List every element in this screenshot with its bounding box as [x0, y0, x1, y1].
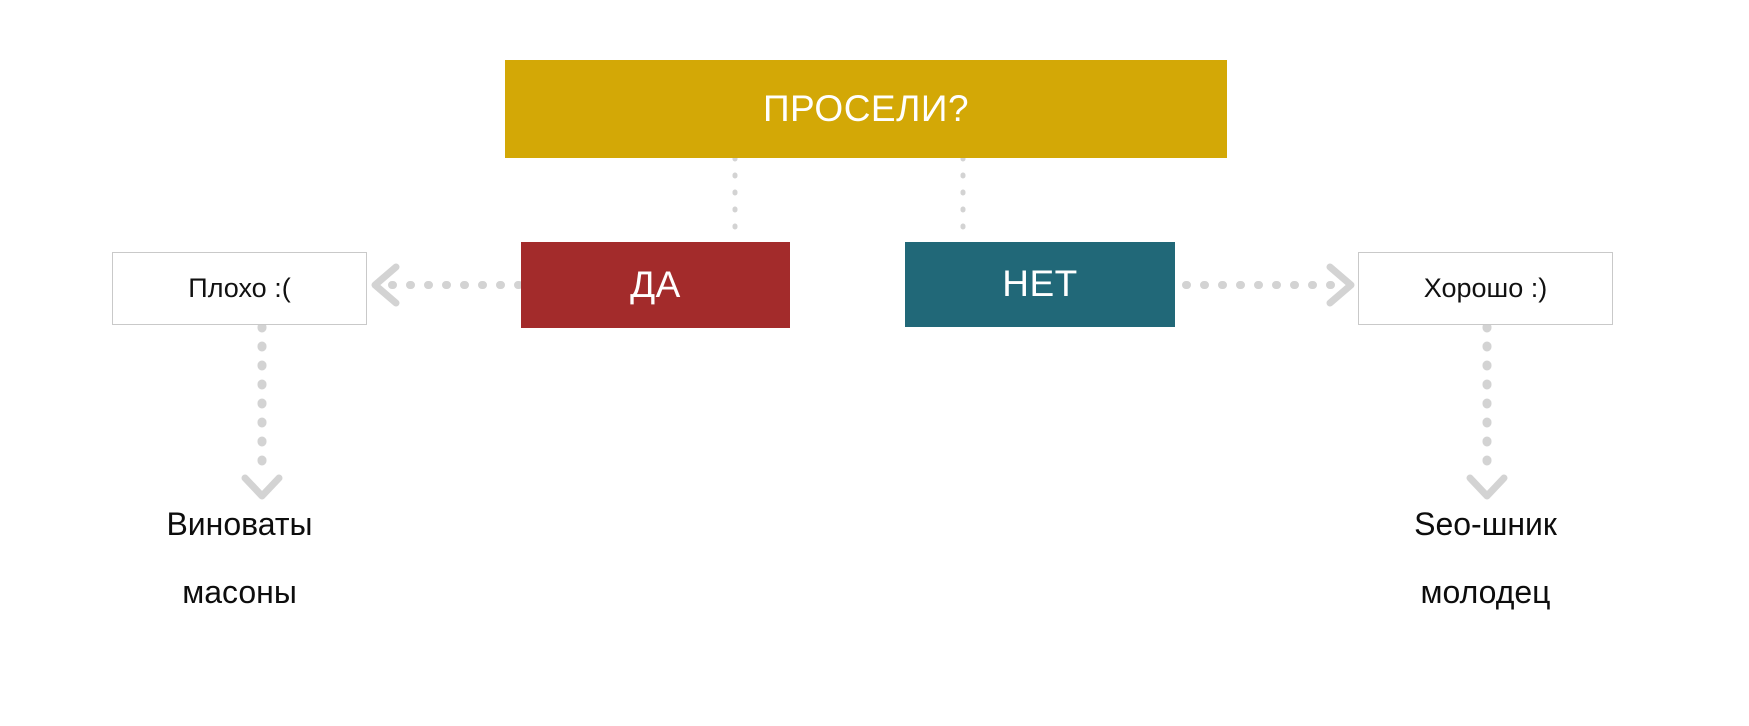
conclusion-seo-line2: молодец — [1358, 576, 1613, 608]
arrowhead-right-icon — [1330, 267, 1351, 303]
conclusion-text-masons: Виноваты масоны — [112, 508, 367, 608]
diagram-canvas: ПРОСЕЛИ? ДА НЕТ Плохо :( Хорошо :) Винов… — [0, 0, 1749, 726]
arrowhead-left-icon — [375, 267, 396, 303]
conclusion-masons-line1: Виноваты — [112, 508, 367, 540]
conclusion-seo-line1: Seo-шник — [1358, 508, 1613, 540]
arrowhead-down-left-icon — [245, 478, 279, 496]
branch-node-yes[interactable]: ДА — [521, 242, 790, 328]
decision-node-question-label: ПРОСЕЛИ? — [763, 89, 969, 130]
outcome-node-bad[interactable]: Плохо :( — [112, 252, 367, 325]
outcome-node-good[interactable]: Хорошо :) — [1358, 252, 1613, 325]
outcome-node-bad-label: Плохо :( — [188, 274, 290, 304]
branch-node-no-label: НЕТ — [1002, 264, 1078, 305]
decision-node-question[interactable]: ПРОСЕЛИ? — [505, 60, 1227, 158]
branch-node-no[interactable]: НЕТ — [905, 242, 1175, 327]
conclusion-masons-line2: масоны — [112, 576, 367, 608]
branch-node-yes-label: ДА — [630, 265, 681, 306]
conclusion-text-seo: Seo-шник молодец — [1358, 508, 1613, 608]
outcome-node-good-label: Хорошо :) — [1424, 274, 1547, 304]
arrowhead-down-right-icon — [1470, 478, 1504, 496]
